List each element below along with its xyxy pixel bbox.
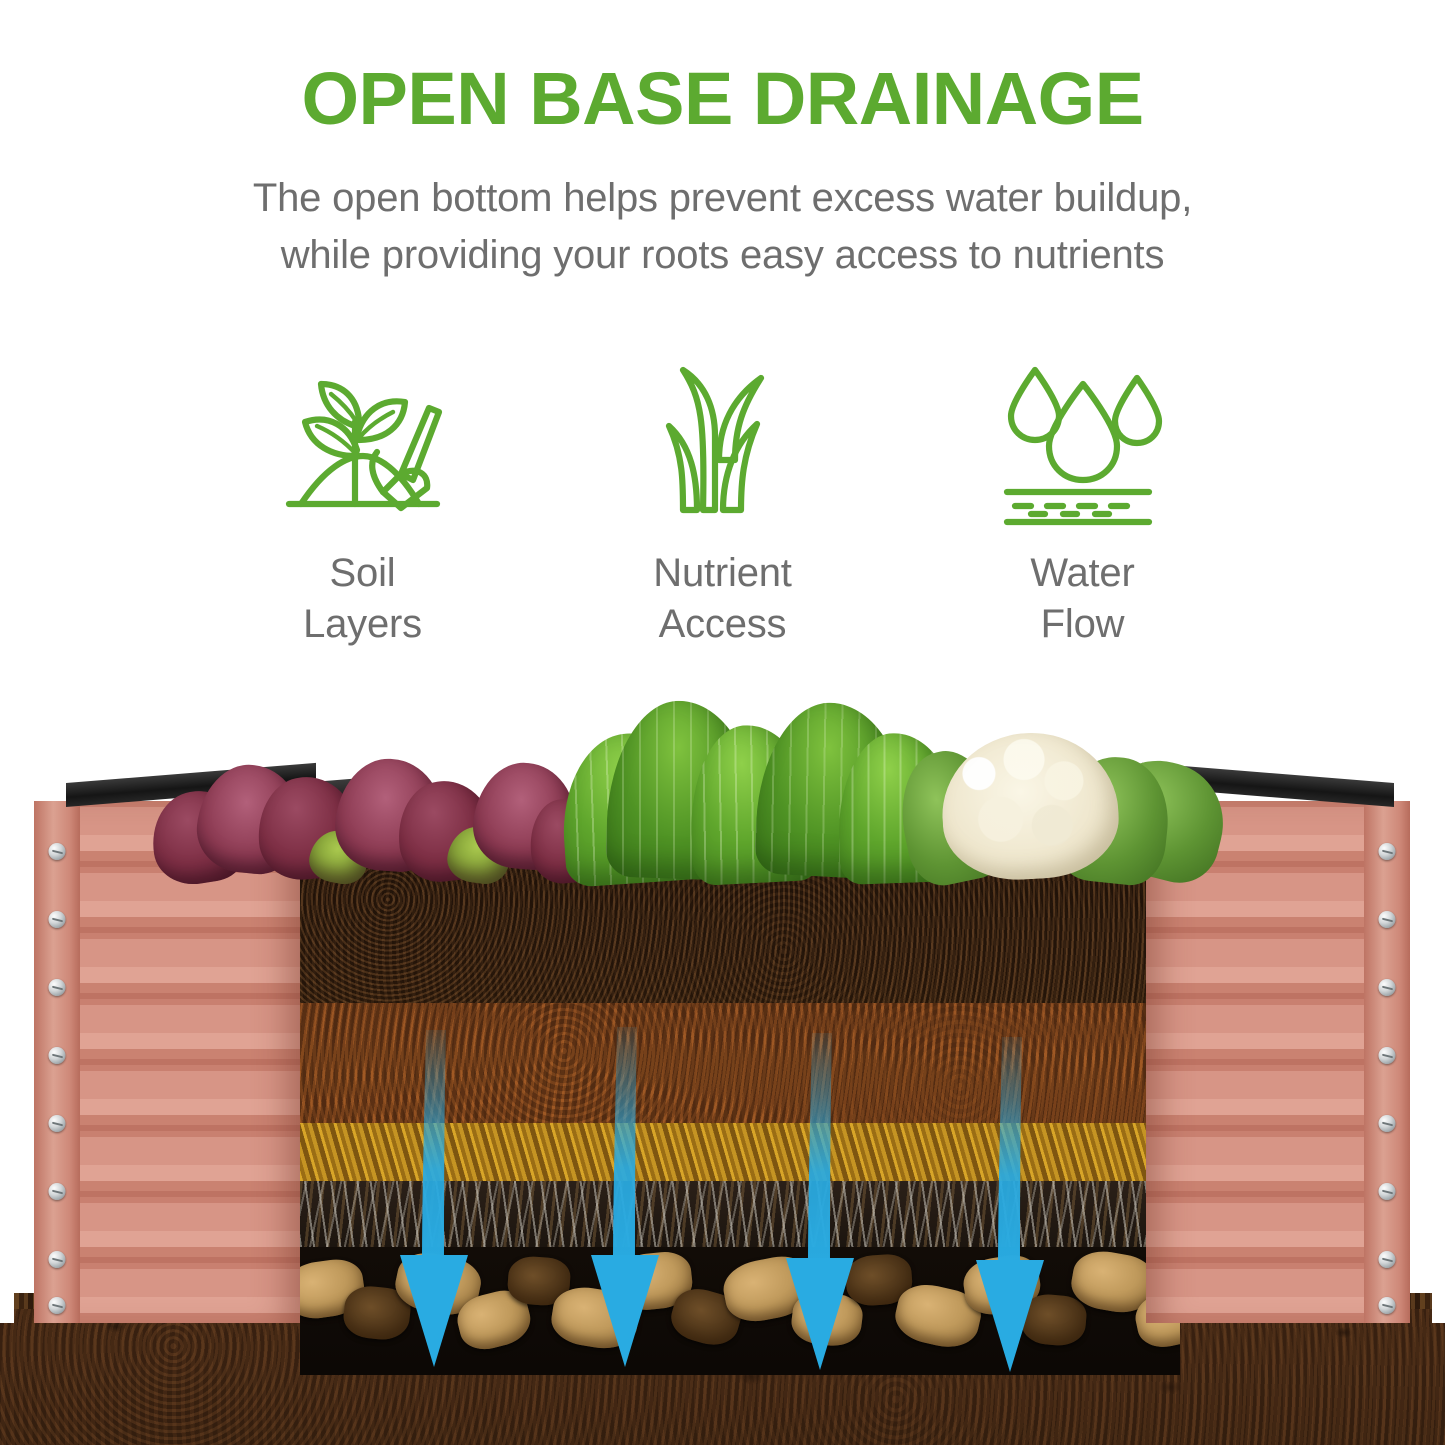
feature-soil-layers-line-1: Soil [183,548,543,599]
screw-icon [49,1047,66,1064]
plant-romaine-lettuce [562,683,962,883]
raised-garden-bed-cross-section [0,655,1445,1445]
screw-icon [1379,979,1396,996]
soil-layer-straw [300,1123,1180,1181]
water-droplets-permeable-layer-icon [903,360,1263,530]
feature-water-flow: Water Flow [903,360,1263,650]
plant-shovel-icon [183,360,543,530]
screw-icon [1379,1047,1396,1064]
soil-layer-split-logs [300,1247,1180,1375]
feature-list: Soil Layers Nutrient Access [0,360,1445,650]
feature-nutrient-access-line-1: Nutrient [543,548,903,599]
screw-icon [1379,911,1396,928]
feature-soil-layers: Soil Layers [183,360,543,650]
grass-blades-icon [543,360,903,530]
screw-icon [49,1297,66,1314]
soil-layer-mulch-coir [300,1003,1180,1123]
screw-icon [1379,1183,1396,1200]
soil-layer-stack [300,855,1180,1375]
feature-water-flow-line-1: Water [903,548,1263,599]
soil-layer-twigs-branches [300,1181,1180,1247]
screw-icon [1379,1115,1396,1132]
infographic-canvas: OPEN BASE DRAINAGE The open bottom helps… [0,0,1445,1445]
canvas-edge-left [0,655,14,1323]
page-subtitle: The open bottom helps prevent excess wat… [0,170,1445,284]
feature-water-flow-line-2: Flow [903,599,1263,650]
feature-nutrient-access: Nutrient Access [543,360,903,650]
screw-icon [49,979,66,996]
plant-row [0,655,1445,905]
subtitle-line-2: while providing your roots easy access t… [0,227,1445,284]
canvas-edge-right [1432,655,1445,1323]
subtitle-line-1: The open bottom helps prevent excess wat… [253,176,1192,220]
feature-label-water-flow: Water Flow [903,548,1263,650]
plant-red-leaf-lettuce [150,723,590,883]
screw-icon [49,1183,66,1200]
feature-label-nutrient-access: Nutrient Access [543,548,903,650]
feature-soil-layers-line-2: Layers [183,599,543,650]
screw-icon [49,911,66,928]
screw-icon [49,1115,66,1132]
screw-icon [49,1251,66,1268]
plant-cauliflower [908,703,1228,883]
feature-nutrient-access-line-2: Access [543,599,903,650]
page-title: OPEN BASE DRAINAGE [0,62,1445,136]
feature-label-soil-layers: Soil Layers [183,548,543,650]
screw-icon [1379,1297,1396,1314]
screw-icon [1379,1251,1396,1268]
